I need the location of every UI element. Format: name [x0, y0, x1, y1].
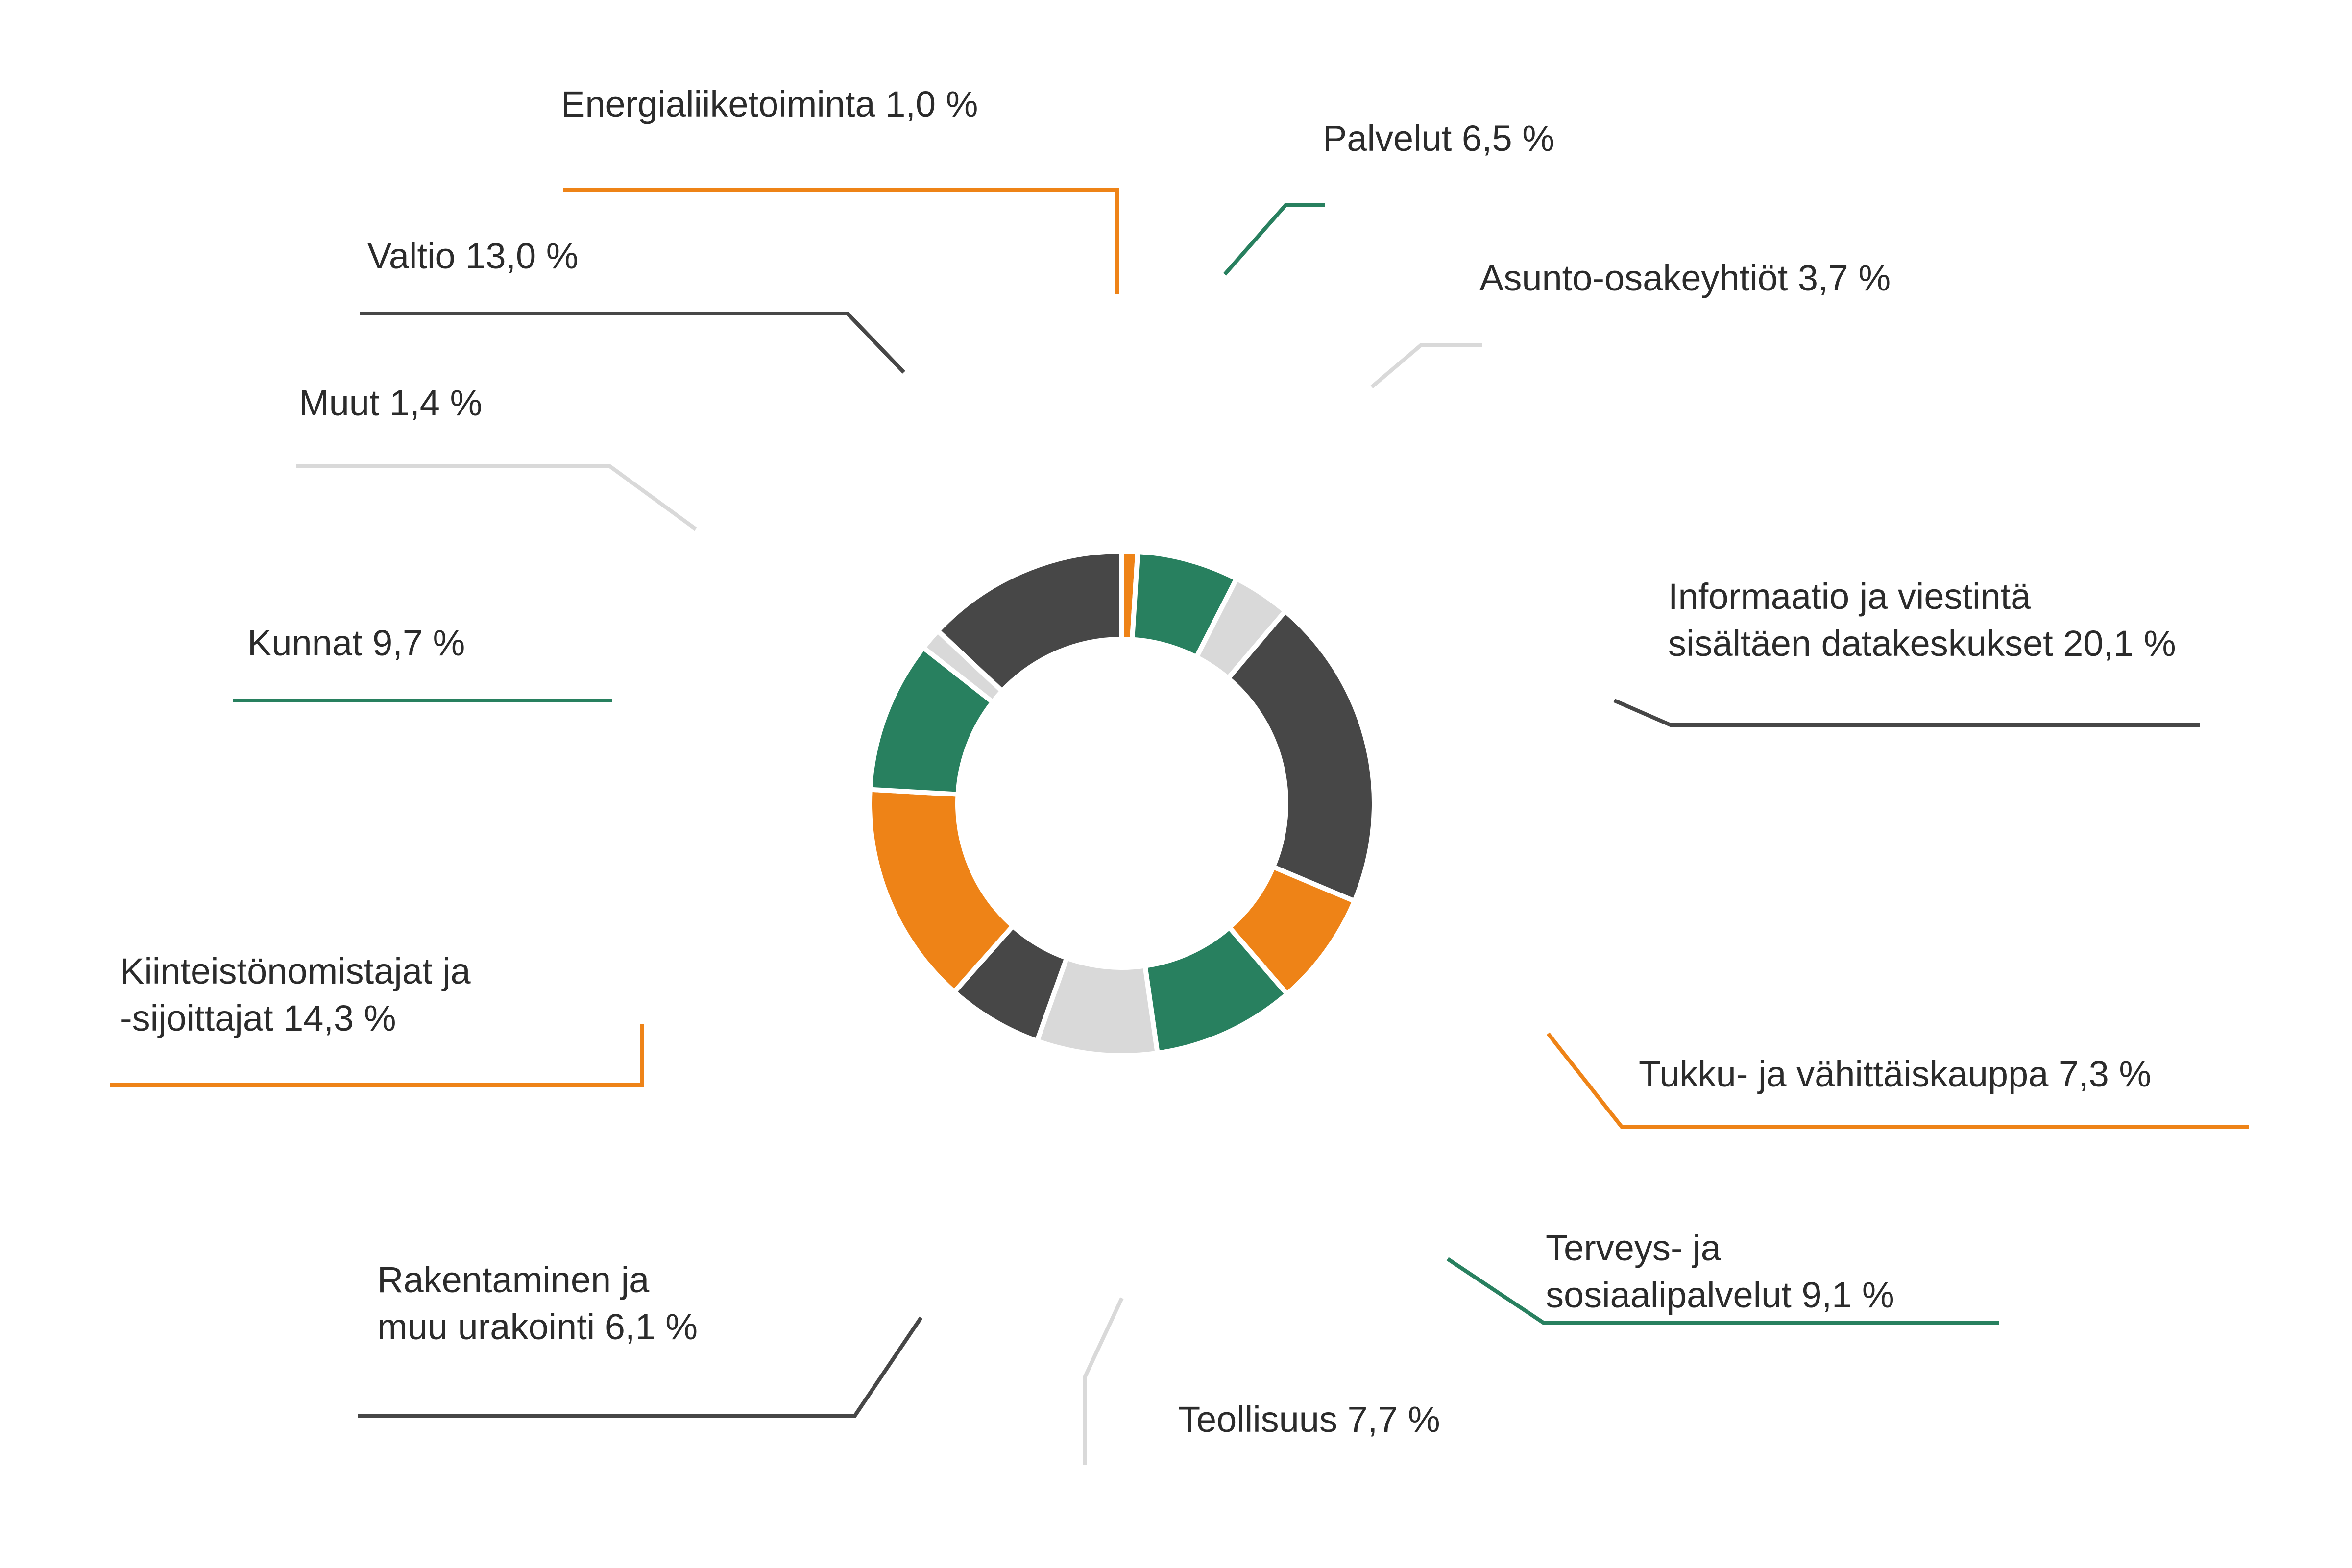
label-kiinteistonomistajat-ja-sijoittajat-line1: Kiinteistönomistajat ja [120, 948, 471, 995]
label-palvelut: Palvelut 6,5 % [1323, 118, 1554, 159]
label-rakentaminen-ja-muu-urakointi-line2: muu urakointi 6,1 % [377, 1303, 698, 1351]
label-informaatio-ja-viestinta-line2: sisältäen datakeskukset 20,1 % [1668, 620, 2176, 667]
donut-segment-informaatio-ja-viestinta[interactable] [1228, 611, 1374, 901]
leader-line-muut [296, 466, 696, 529]
label-energialiiketoiminta: Energialiiketoiminta 1,0 % [561, 83, 978, 125]
label-kunnat: Kunnat 9,7 % [247, 622, 465, 664]
label-informaatio-ja-viestinta-line1: Informaatio ja viestintä [1668, 573, 2176, 620]
label-terveys-ja-sosiaalipalvelut: Terveys- ja sosiaalipalvelut 9,1 % [1546, 1225, 1894, 1319]
label-teollisuus-line1: Teollisuus 7,7 % [1178, 1399, 1440, 1440]
label-terveys-ja-sosiaalipalvelut-line1: Terveys- ja [1546, 1225, 1894, 1272]
chart-canvas [0, 0, 2352, 1568]
leader-line-teollisuus [1085, 1298, 1122, 1465]
leader-line-asunto-osakeyhtiot [1372, 345, 1482, 387]
label-asunto-osakeyhtiot: Asunto-osakeyhtiöt 3,7 % [1479, 257, 1891, 299]
leader-line-valtio [360, 314, 904, 372]
leader-line-energialiiketoiminta [563, 190, 1117, 294]
leader-line-informaatio-ja-viestinta [1614, 700, 2200, 725]
label-kiinteistonomistajat-ja-sijoittajat-line2: -sijoittajat 14,3 % [120, 995, 471, 1042]
label-asunto-osakeyhtiot-line1: Asunto-osakeyhtiöt 3,7 % [1479, 258, 1891, 298]
label-kiinteistonomistajat-ja-sijoittajat: Kiinteistönomistajat ja -sijoittajat 14,… [120, 948, 471, 1042]
label-palvelut-line1: Palvelut 6,5 % [1323, 118, 1554, 159]
leader-line-palvelut [1225, 205, 1325, 274]
label-valtio-line1: Valtio 13,0 % [367, 236, 579, 276]
label-kunnat-line1: Kunnat 9,7 % [247, 623, 465, 663]
label-rakentaminen-ja-muu-urakointi: Rakentaminen ja muu urakointi 6,1 % [377, 1256, 698, 1351]
label-tukku-ja-vahittaiskauppa: Tukku- ja vähittäiskauppa 7,3 % [1639, 1053, 2151, 1095]
label-teollisuus: Teollisuus 7,7 % [1178, 1399, 1440, 1440]
label-energialiiketoiminta-line1: Energialiiketoiminta 1,0 % [561, 84, 978, 124]
label-terveys-ja-sosiaalipalvelut-line2: sosiaalipalvelut 9,1 % [1546, 1272, 1894, 1319]
label-muut-line1: Muut 1,4 % [299, 383, 482, 423]
donut-chart: Energialiiketoiminta 1,0 % Palvelut 6,5 … [0, 0, 2352, 1568]
label-tukku-ja-vahittaiskauppa-line1: Tukku- ja vähittäiskauppa 7,3 % [1639, 1054, 2151, 1094]
donut-segments [870, 551, 1374, 1056]
label-rakentaminen-ja-muu-urakointi-line1: Rakentaminen ja [377, 1256, 698, 1303]
label-valtio: Valtio 13,0 % [367, 235, 579, 277]
label-muut: Muut 1,4 % [299, 382, 482, 424]
label-informaatio-ja-viestinta: Informaatio ja viestintä sisältäen datak… [1668, 573, 2176, 667]
